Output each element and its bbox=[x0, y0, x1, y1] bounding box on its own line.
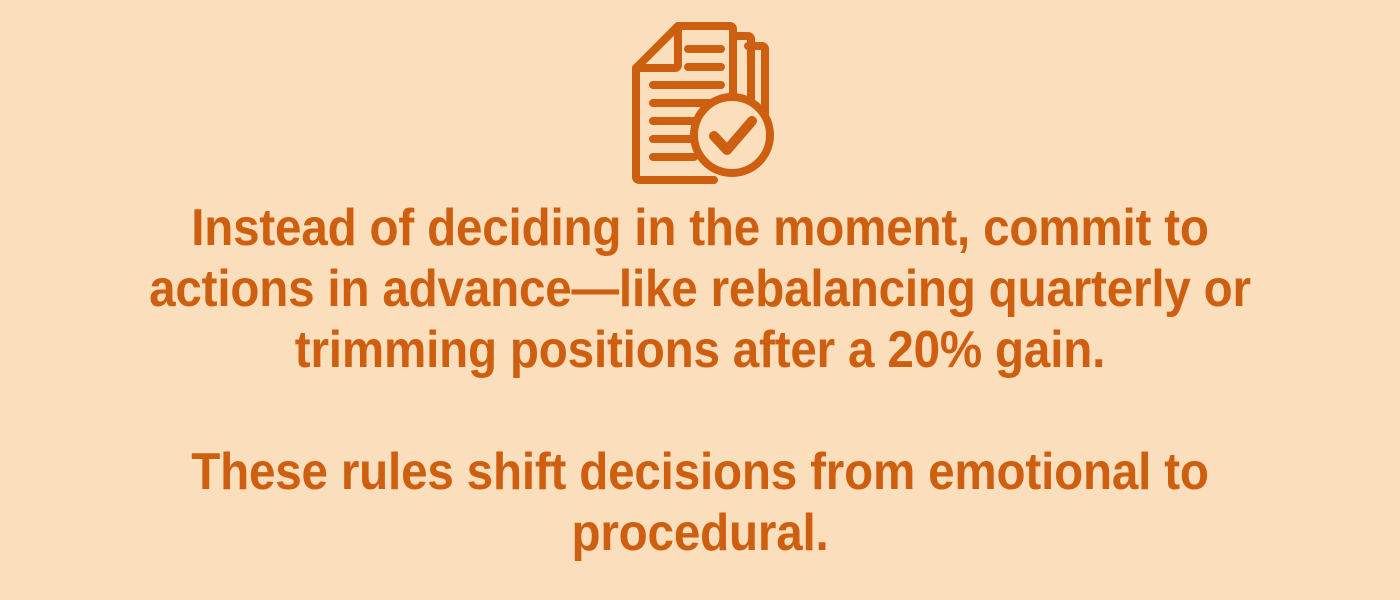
document-checklist-approved-icon bbox=[622, 22, 778, 184]
quote-paragraph-1: Instead of deciding in the moment, commi… bbox=[128, 198, 1272, 381]
check-badge-circle-icon bbox=[694, 97, 770, 173]
folded-corner-icon bbox=[636, 26, 678, 68]
quote-paragraph-2: These rules shift decisions from emotion… bbox=[128, 442, 1272, 564]
document-checklist-approved-icon-svg bbox=[622, 22, 778, 184]
paragraph-spacer bbox=[128, 381, 1272, 442]
quote-card: Instead of deciding in the moment, commi… bbox=[0, 0, 1400, 600]
quote-text-block: Instead of deciding in the moment, commi… bbox=[128, 198, 1272, 564]
